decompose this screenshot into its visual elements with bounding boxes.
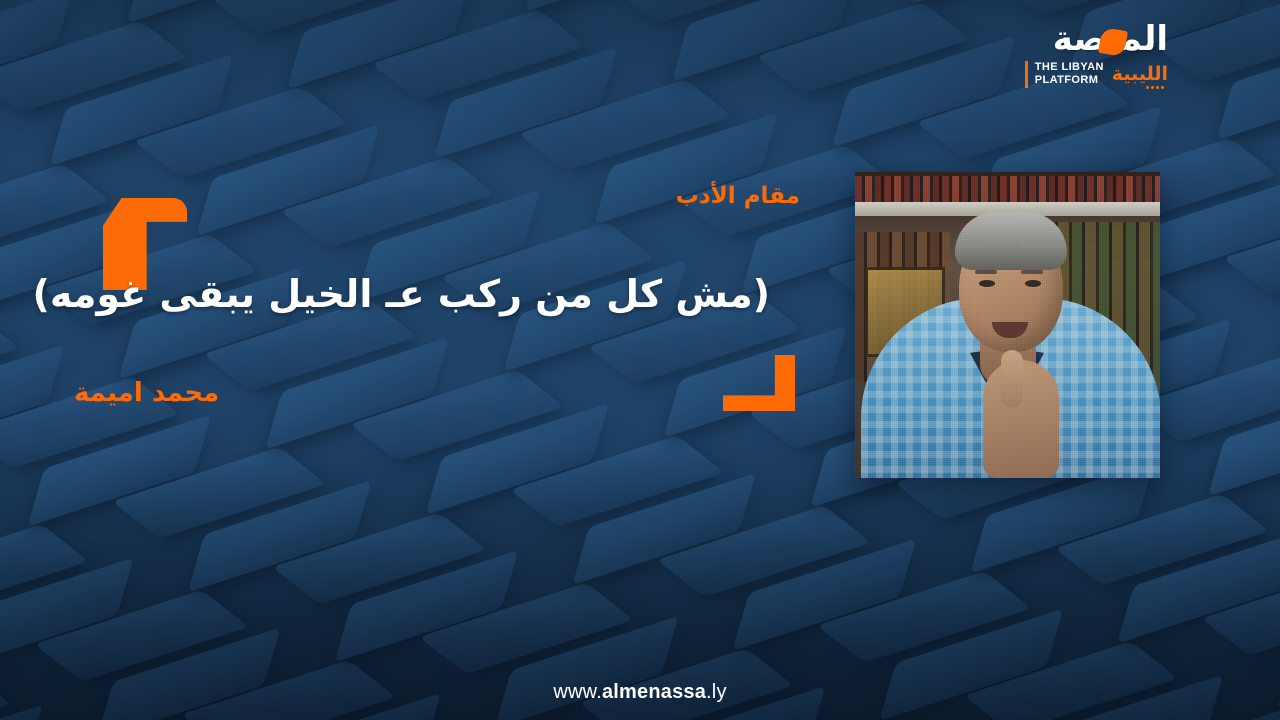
brand-logo[interactable]: المنصة THE LIBYAN PLATFORM الليبية [1025,22,1168,88]
logo-secondary-row: THE LIBYAN PLATFORM الليبية [1025,61,1168,88]
logo-arabic-main: المنصة [1053,22,1168,56]
logo-arabic-wrap: المنصة [1053,22,1168,56]
portrait-photo [855,172,1160,478]
page-title: (مش كل من ركب عـ الخيل يبقى غومه) [130,272,770,316]
logo-dots-icon [1146,86,1164,89]
logo-english: THE LIBYAN PLATFORM [1025,61,1104,88]
logo-arabic-sub: الليبية [1112,63,1168,85]
logo-arabic-sub-wrap: الليبية [1112,65,1168,84]
logo-english-line2: PLATFORM [1035,74,1099,86]
website-url-name: almenassa [602,681,706,703]
author-name: محمد اميمة [74,378,219,408]
logo-arabic-row: المنصة [1053,22,1168,56]
photo-grain-overlay [855,172,1160,478]
logo-english-line1: THE LIBYAN [1035,61,1104,73]
quote-card-canvas: المنصة THE LIBYAN PLATFORM الليبية مقام … [0,0,1280,720]
quote-close-icon [723,355,795,411]
website-url-prefix: www. [553,681,602,703]
kicker-label: مقام الأدب [676,183,800,209]
website-url-tld: .ly [706,681,727,703]
website-url[interactable]: www.almenassa.ly [0,681,1280,704]
